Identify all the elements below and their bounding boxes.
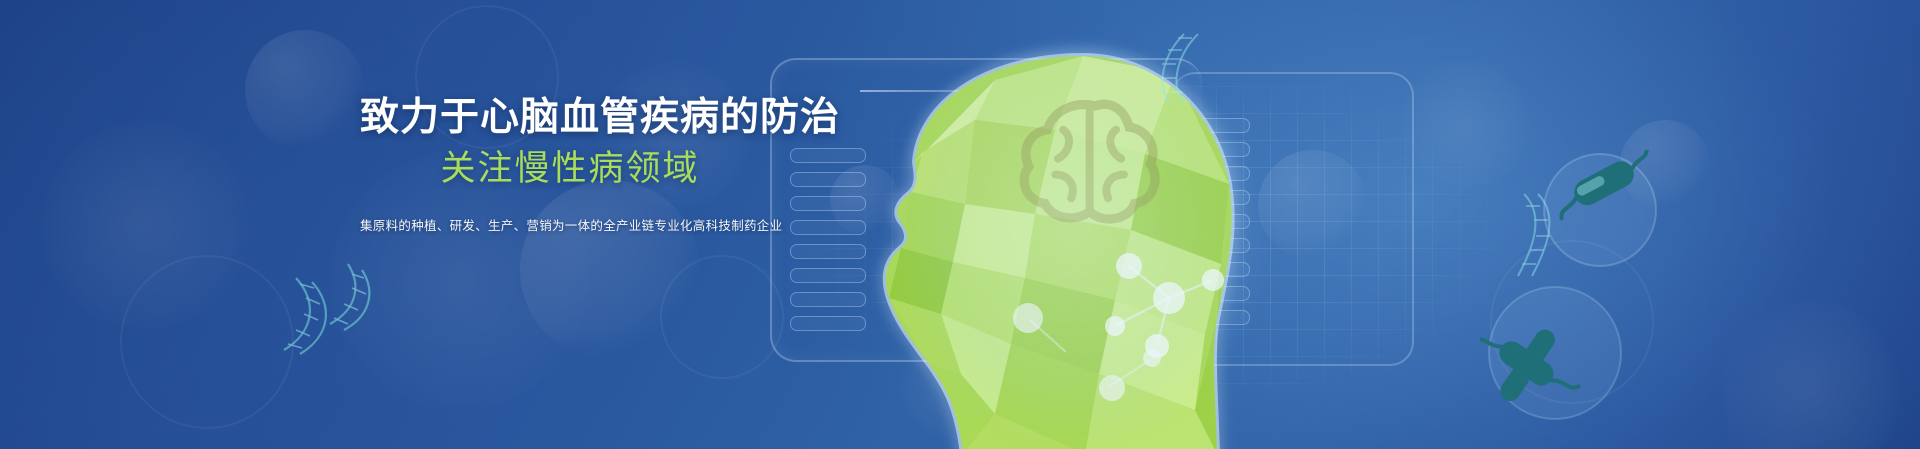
page-subtitle: 关注慢性病领域 xyxy=(360,149,780,189)
bokeh-circle xyxy=(120,255,294,429)
bokeh-circle xyxy=(1620,120,1710,210)
hero-copy: 致力于心脑血管疾病的防治 关注慢性病领域 集原料的种植、研发、生产、营销为一体的… xyxy=(360,96,780,234)
head-glow xyxy=(885,44,1265,444)
bokeh-circle xyxy=(660,255,784,379)
bokeh-circle xyxy=(1400,60,1530,190)
bacteria-icon xyxy=(1480,278,1630,428)
bokeh-circle xyxy=(245,30,365,150)
bokeh-circle xyxy=(1720,300,1900,449)
head-graphic xyxy=(845,34,1325,449)
page-title: 致力于心脑血管疾病的防治 xyxy=(360,96,780,140)
bokeh-circle xyxy=(40,120,250,330)
dna-helix-icon xyxy=(1510,190,1580,300)
page-tagline: 集原料的种植、研发、生产、营销为一体的全产业链专业化高科技制药企业 xyxy=(360,215,780,234)
bokeh-circle xyxy=(1490,240,1654,404)
hero-banner: 致力于心脑血管疾病的防治 关注慢性病领域 集原料的种植、研发、生产、营销为一体的… xyxy=(0,0,1920,449)
bacteria-icon xyxy=(1535,150,1665,270)
dna-helix-icon xyxy=(270,252,400,362)
